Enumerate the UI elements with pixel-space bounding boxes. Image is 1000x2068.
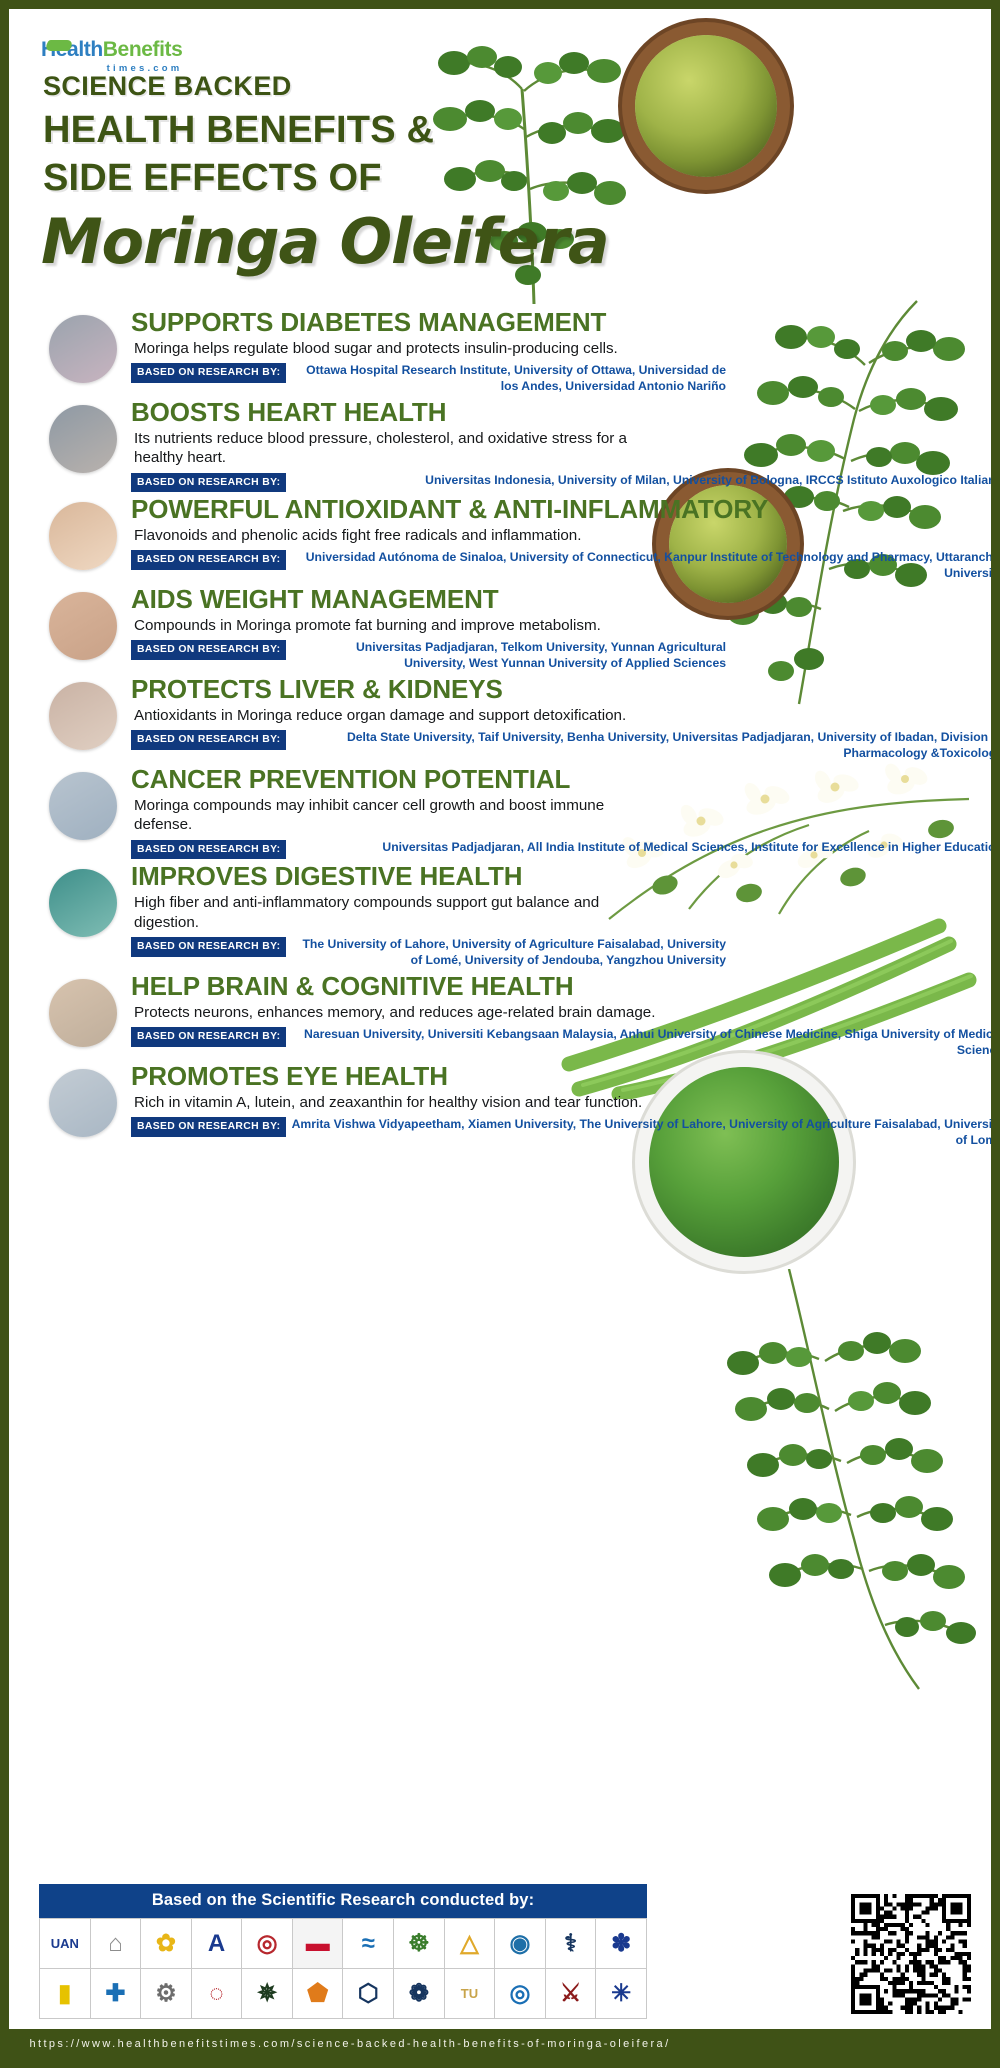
moringa-branch-right-lower-art xyxy=(669,1269,999,1699)
naresuan-university-logo: ◉ xyxy=(495,1919,546,1969)
benefit-title: IMPROVES DIGESTIVE HEALTH xyxy=(131,863,1000,891)
citation-institutions: Universidad Autónoma de Sinaloa, Univers… xyxy=(306,550,1000,580)
benefit-body: CANCER PREVENTION POTENTIALMoringa compo… xyxy=(131,766,1000,859)
waist-measuring-tape-photo xyxy=(49,592,117,660)
benefit-body: SUPPORTS DIABETES MANAGEMENTMoringa help… xyxy=(131,309,1000,395)
benefit-body: AIDS WEIGHT MANAGEMENTCompounds in Morin… xyxy=(131,586,1000,672)
the-university-of-lahore-logo: ◎ xyxy=(495,1969,546,2019)
site-logo[interactable]: HealthBenefits times.com xyxy=(41,39,182,74)
universitas-indonesia-logo: ✿ xyxy=(141,1919,192,1969)
benefit-body: PROTECTS LIVER & KIDNEYSAntioxidants in … xyxy=(131,676,1000,762)
benefit-item: SUPPORTS DIABETES MANAGEMENTMoringa help… xyxy=(9,309,1000,395)
university-of-lome-logo: ⚔ xyxy=(546,1969,597,2019)
infographic-poster: HealthBenefits times.com SCIENCE BACKED … xyxy=(0,0,1000,2068)
benefit-body: IMPROVES DIGESTIVE HEALTHHigh fiber and … xyxy=(131,863,1000,968)
eye-strain-woman-photo xyxy=(49,1069,117,1137)
benefit-description: High fiber and anti-inflammatory compoun… xyxy=(131,893,661,932)
benefit-citation: BASED ON RESEARCH BY:Universidad Autónom… xyxy=(131,550,1000,582)
chest-pain-photo xyxy=(49,405,117,473)
amrita-vishwa-vidyapeetham-logo: A xyxy=(192,1919,243,1969)
kicker-text: SCIENCE BACKED xyxy=(43,71,292,102)
citation-institutions: Ottawa Hospital Research Institute, Univ… xyxy=(306,363,726,393)
benefit-description: Flavonoids and phenolic acids fight free… xyxy=(131,526,661,545)
based-on-research-tag: BASED ON RESEARCH BY: xyxy=(131,363,286,383)
url-bar: https://www.healthbenefitstimes.com/scie… xyxy=(9,2029,991,2059)
benefit-item: IMPROVES DIGESTIVE HEALTHHigh fiber and … xyxy=(9,863,1000,968)
benefit-title: PROTECTS LIVER & KIDNEYS xyxy=(131,676,1000,704)
benefit-title: POWERFUL ANTIOXIDANT & ANTI-INFLAMMATORY xyxy=(131,496,1000,524)
shiga-university-medical-science-logo: ⚕ xyxy=(546,1919,597,1969)
based-on-research-tag: BASED ON RESEARCH BY: xyxy=(131,937,286,957)
page-title: Moringa Oleifera xyxy=(41,205,609,278)
university-of-ibadan-logo: ☸ xyxy=(394,1919,445,1969)
universitas-indonesia-flag-logo: ▬ xyxy=(293,1919,344,1969)
citation-institutions: Universitas Padjadjaran, Telkom Universi… xyxy=(356,640,726,670)
benefit-title: PROMOTES EYE HEALTH xyxy=(131,1063,1000,1091)
uan-universidad-antonio-narino-logo: UAN xyxy=(40,1919,91,1969)
benefit-citation: BASED ON RESEARCH BY:The University of L… xyxy=(131,937,726,969)
benefit-item: PROTECTS LIVER & KIDNEYSAntioxidants in … xyxy=(9,676,1000,762)
benefit-body: PROMOTES EYE HEALTHRich in vitamin A, lu… xyxy=(131,1063,1000,1149)
citation-institutions: Delta State University, Taif University,… xyxy=(347,730,1000,760)
based-on-research-tag: BASED ON RESEARCH BY: xyxy=(131,1027,286,1047)
university-columns-building-logo: ⌂ xyxy=(91,1919,142,1969)
benefit-item: POWERFUL ANTIOXIDANT & ANTI-INFLAMMATORY… xyxy=(9,496,1000,582)
anhui-university-chinese-medicine-logo: ✽ xyxy=(596,1919,647,1969)
university-logo-grid: UAN⌂✿A◎▬≈☸△◉⚕✽▮✚⚙◌✵⬟⬡❁TU◎⚔✳ xyxy=(39,1918,647,2019)
university-of-jendouba-logo: ✳ xyxy=(596,1969,647,2019)
university-of-connecticut-logo: ⬡ xyxy=(343,1969,394,2019)
doctor-patient-consult-photo xyxy=(49,772,117,840)
benefit-citation: BASED ON RESEARCH BY:Universitas Indones… xyxy=(131,473,1000,489)
based-on-research-tag: BASED ON RESEARCH BY: xyxy=(131,1117,286,1137)
benefit-citation: BASED ON RESEARCH BY:Universitas Padjadj… xyxy=(131,640,726,672)
delta-state-university-logo: ✵ xyxy=(242,1969,293,2019)
benefit-item: PROMOTES EYE HEALTHRich in vitamin A, lu… xyxy=(9,1063,1000,1149)
based-on-research-tag: BASED ON RESEARCH BY: xyxy=(131,640,286,660)
benefit-title: HELP BRAIN & COGNITIVE HEALTH xyxy=(131,973,1000,1001)
benefit-description: Its nutrients reduce blood pressure, cho… xyxy=(131,429,661,468)
headline-line-2: SIDE EFFECTS OF xyxy=(43,157,382,200)
universitas-padjadjaran-logo: △ xyxy=(445,1919,496,1969)
moringa-powder-bowl-top xyxy=(635,35,777,177)
benefit-citation: BASED ON RESEARCH BY:Universitas Padjadj… xyxy=(131,840,1000,856)
benefit-description: Compounds in Moringa promote fat burning… xyxy=(131,616,661,635)
logo-benefits-text: Benefits xyxy=(103,38,183,61)
benefit-body: BOOSTS HEART HEALTHIts nutrients reduce … xyxy=(131,399,1000,492)
benefit-citation: BASED ON RESEARCH BY:Naresuan University… xyxy=(131,1027,1000,1059)
benefit-description: Protects neurons, enhances memory, and r… xyxy=(131,1003,661,1022)
benefit-item: BOOSTS HEART HEALTHIts nutrients reduce … xyxy=(9,399,1000,492)
benefit-description: Rich in vitamin A, lutein, and zeaxanthi… xyxy=(131,1093,661,1112)
xiamen-university-logo: ❁ xyxy=(394,1969,445,2019)
benefit-body: POWERFUL ANTIOXIDANT & ANTI-INFLAMMATORY… xyxy=(131,496,1000,582)
benefit-item: AIDS WEIGHT MANAGEMENTCompounds in Morin… xyxy=(9,586,1000,672)
citation-institutions: Universitas Indonesia, University of Mil… xyxy=(425,473,1000,487)
based-on-research-tag: BASED ON RESEARCH BY: xyxy=(131,550,286,570)
research-footer: Based on the Scientific Research conduct… xyxy=(39,1884,647,2019)
benha-university-logo: ⬟ xyxy=(293,1969,344,2019)
benefit-title: AIDS WEIGHT MANAGEMENT xyxy=(131,586,1000,614)
based-on-research-tag: BASED ON RESEARCH BY: xyxy=(131,473,286,493)
benefit-description: Moringa helps regulate blood sugar and p… xyxy=(131,339,661,358)
citation-institutions: Naresuan University, Universiti Kebangsa… xyxy=(304,1027,1000,1057)
benefit-description: Moringa compounds may inhibit cancer cel… xyxy=(131,796,661,835)
benefit-citation: BASED ON RESEARCH BY:Amrita Vishwa Vidya… xyxy=(131,1117,1000,1149)
telkom-university-logo: TU xyxy=(445,1969,496,2019)
headline-line-1: HEALTH BENEFITS & xyxy=(43,109,434,152)
benefit-item: HELP BRAIN & COGNITIVE HEALTHProtects ne… xyxy=(9,973,1000,1059)
taif-university-logo: ▮ xyxy=(40,1969,91,2019)
benefit-citation: BASED ON RESEARCH BY:Ottawa Hospital Res… xyxy=(131,363,726,395)
abdomen-hands-photo xyxy=(49,682,117,750)
citation-institutions: The University of Lahore, University of … xyxy=(302,937,726,967)
blood-glucose-meter-photo xyxy=(49,315,117,383)
benefit-description: Antioxidants in Moringa reduce organ dam… xyxy=(131,706,661,725)
benefit-title: BOOSTS HEART HEALTH xyxy=(131,399,1000,427)
benefit-citation: BASED ON RESEARCH BY:Delta State Univers… xyxy=(131,730,1000,762)
stomach-hands-photo xyxy=(49,869,117,937)
footer-bar-label: Based on the Scientific Research conduct… xyxy=(39,1884,647,1918)
based-on-research-tag: BASED ON RESEARCH BY: xyxy=(131,840,286,860)
child-skin-inflammation-photo xyxy=(49,502,117,570)
ottawa-hospital-research-institute-logo: ✚ xyxy=(91,1969,142,2019)
benefits-list: SUPPORTS DIABETES MANAGEMENTMoringa help… xyxy=(9,309,1000,1153)
universiti-kebangsaan-malaysia-logo: ≈ xyxy=(343,1919,394,1969)
citation-institutions: Universitas Padjadjaran, All India Insti… xyxy=(382,840,1000,854)
qr-code[interactable] xyxy=(851,1894,971,2014)
benefit-title: CANCER PREVENTION POTENTIAL xyxy=(131,766,1000,794)
yangzhou-university-logo: ◎ xyxy=(242,1919,293,1969)
benefit-title: SUPPORTS DIABETES MANAGEMENT xyxy=(131,309,1000,337)
university-of-bologna-logo: ◌ xyxy=(192,1969,243,2019)
url-text: https://www.healthbenefitstimes.com/scie… xyxy=(29,2038,670,2050)
benefit-item: CANCER PREVENTION POTENTIALMoringa compo… xyxy=(9,766,1000,859)
university-of-milan-logo: ⚙ xyxy=(141,1969,192,2019)
headache-woman-photo xyxy=(49,979,117,1047)
citation-institutions: Amrita Vishwa Vidyapeetham, Xiamen Unive… xyxy=(292,1117,1000,1147)
based-on-research-tag: BASED ON RESEARCH BY: xyxy=(131,730,286,750)
benefit-body: HELP BRAIN & COGNITIVE HEALTHProtects ne… xyxy=(131,973,1000,1059)
